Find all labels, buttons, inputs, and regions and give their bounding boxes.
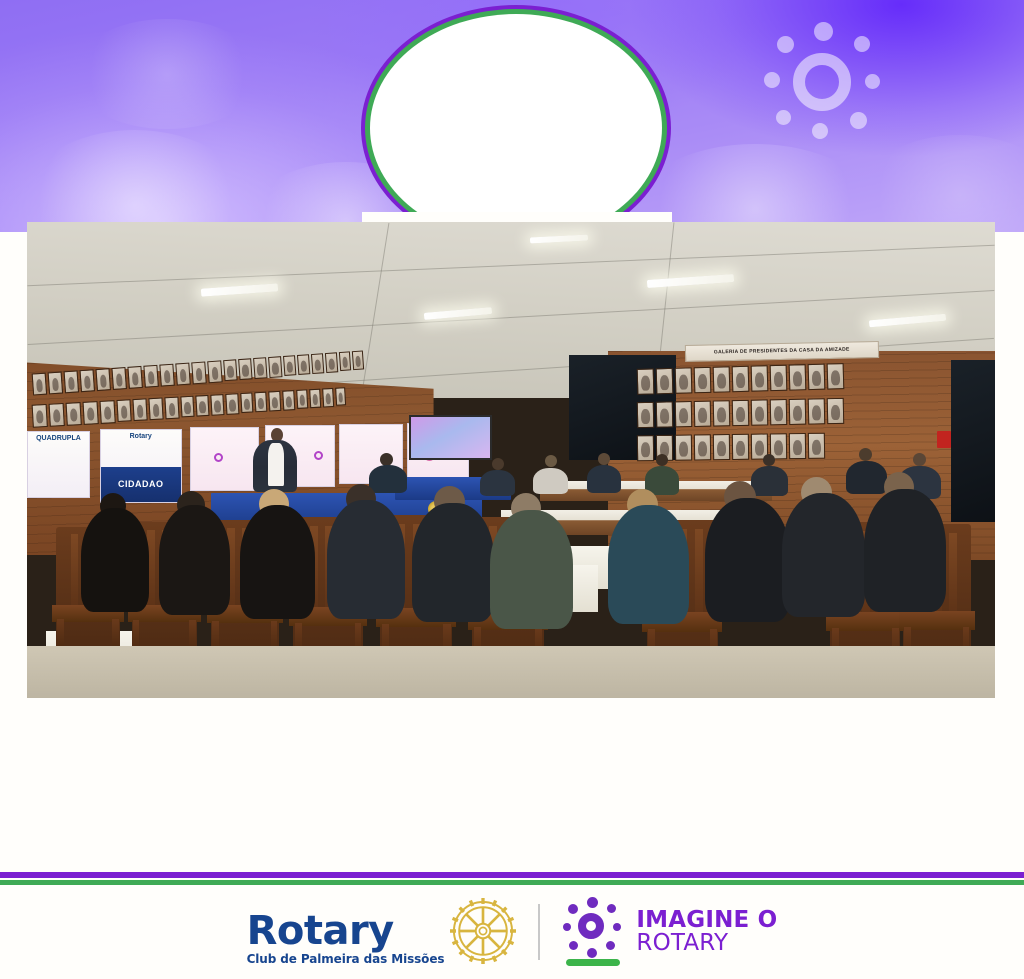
portrait-frame — [674, 367, 692, 393]
portrait-frame — [675, 401, 693, 427]
portrait-frame — [826, 363, 844, 389]
portrait-frame — [82, 401, 98, 425]
portrait-frame — [195, 395, 209, 417]
portrait-frame — [31, 404, 47, 428]
banner-sunburst-icon — [314, 451, 323, 460]
event-photo: GALERIA DE PRESIDENTES DA CASA DA AMIZAD… — [27, 222, 995, 698]
portrait-frame — [65, 402, 81, 426]
portrait-frame — [637, 435, 654, 461]
watermark-ray — [777, 36, 794, 53]
banner-quadrupla: QUADRUPLA — [27, 431, 90, 498]
portrait-frame — [335, 387, 346, 406]
sunburst-dot — [587, 897, 598, 908]
footer: Rotary Club de Palmeira das Missões — [0, 885, 1024, 979]
portrait-frame — [282, 390, 295, 411]
watermark-ring — [793, 53, 851, 111]
portrait-frame — [655, 368, 673, 394]
portrait-frame — [712, 366, 730, 392]
portrait-frame — [207, 361, 223, 384]
portrait-frame — [31, 373, 47, 396]
attendee-body — [240, 505, 316, 619]
portrait-frame — [283, 356, 296, 377]
portrait-frame — [322, 388, 334, 408]
portrait-frame — [164, 396, 179, 419]
portrait-frame — [713, 434, 730, 460]
divider-purple — [0, 872, 1024, 878]
portrait-frame — [143, 365, 159, 388]
attendee-head — [763, 454, 775, 466]
fire-extinguisher-sign-icon — [937, 431, 951, 448]
portrait-row — [637, 398, 844, 428]
imagine-green-underline — [566, 959, 620, 966]
sunburst-dot — [607, 904, 616, 913]
portrait-frame — [788, 364, 806, 390]
portrait-frame — [63, 371, 79, 394]
banner-title: QUADRUPLA — [28, 432, 89, 443]
portrait-frame — [827, 398, 845, 424]
watermark-ray — [776, 110, 791, 125]
portrait-frame — [309, 388, 321, 408]
portrait-frame — [637, 402, 655, 428]
banner-rotary-cidadao: Rotary CIDADAO — [100, 429, 182, 503]
portrait-frame — [339, 352, 351, 372]
portrait-frame — [311, 354, 324, 375]
header-banner — [0, 0, 1024, 232]
portrait-frame — [268, 391, 281, 412]
watermark-ray — [814, 22, 833, 41]
portrait-frame — [225, 393, 239, 415]
watermark-ray — [850, 112, 867, 129]
attendee-body-green — [490, 510, 573, 629]
attendee-head — [545, 455, 557, 467]
portrait-frame — [693, 367, 711, 393]
banner-sunburst-icon — [214, 453, 223, 462]
rotary-gear-wheel-icon — [450, 898, 516, 964]
imagine-rotary-sunburst-icon — [562, 897, 624, 967]
portrait-frame — [47, 372, 63, 395]
portrait-frame — [79, 370, 95, 393]
chair-slat — [949, 533, 956, 622]
portrait-frame — [116, 399, 131, 422]
attendee-body — [846, 461, 887, 494]
sunburst-dot — [613, 923, 621, 931]
portrait-frame — [296, 389, 308, 409]
footer-divider — [538, 904, 540, 960]
portrait-frame — [238, 359, 252, 381]
watermark-ray — [764, 72, 780, 88]
imagine-line-1: IMAGINE O — [636, 909, 777, 932]
header-cloud — [72, 19, 262, 129]
portrait-frame — [352, 351, 364, 371]
post-card: GALERIA DE PRESIDENTES DA CASA DA AMIZAD… — [0, 0, 1024, 979]
imagine-rotary-wordmark: IMAGINE O ROTARY — [636, 909, 777, 955]
portrait-frame — [48, 403, 64, 427]
imagine-rotary-sunburst-watermark-icon — [762, 22, 882, 142]
speaker-shirt — [268, 443, 284, 486]
portrait-frame — [159, 364, 175, 387]
attendee-body — [480, 470, 515, 497]
portrait-frame — [210, 394, 224, 416]
portrait-frame — [268, 357, 282, 379]
sunburst-dot — [606, 941, 615, 950]
watermark-ray — [865, 74, 880, 89]
portrait-frame — [751, 399, 769, 425]
portrait-frame — [656, 401, 674, 427]
rotary-wordmark: Rotary — [247, 912, 394, 950]
portrait-frame — [148, 397, 163, 420]
portrait-frame — [637, 368, 655, 394]
portrait-frame — [254, 391, 267, 412]
presentation-screen — [409, 415, 491, 460]
attendee-body — [705, 498, 790, 622]
rotary-wordmark-block: Rotary Club de Palmeira das Missões — [247, 912, 445, 966]
attendee-body — [751, 466, 788, 496]
sunburst-ring — [578, 913, 604, 939]
sunburst-dot — [568, 904, 578, 914]
attendee-body — [412, 503, 493, 622]
sunburst-dot — [569, 941, 578, 950]
portrait-frame — [789, 433, 806, 459]
attendee-body — [327, 500, 404, 619]
portrait-frame — [808, 433, 825, 459]
portrait-frame — [127, 366, 143, 389]
portrait-frame — [713, 400, 731, 426]
event-photo-canvas: GALERIA DE PRESIDENTES DA CASA DA AMIZAD… — [27, 222, 995, 698]
watermark-ray — [812, 123, 828, 139]
sunburst-dot — [587, 948, 597, 958]
portrait-frame — [111, 367, 127, 390]
portrait-frame — [770, 399, 788, 425]
portrait-row — [637, 363, 845, 395]
chair-slat — [695, 529, 703, 623]
portrait-frame — [253, 358, 267, 380]
header-cloud — [860, 135, 1024, 232]
portrait-frame — [223, 360, 237, 382]
attendee-body-teal — [608, 505, 689, 624]
portrait-frame — [297, 355, 310, 376]
attendee-body — [533, 468, 568, 495]
portrait-frame — [132, 398, 147, 421]
portrait-frame — [732, 400, 750, 426]
portrait-frame — [240, 392, 253, 413]
portrait-frame — [99, 400, 115, 424]
portrait-frame — [95, 369, 111, 392]
attendee-body — [782, 493, 865, 617]
portrait-frame — [807, 363, 825, 389]
portrait-frame — [191, 362, 207, 385]
portrait-frame — [175, 363, 191, 386]
attendee-head — [598, 453, 610, 465]
portrait-frame — [325, 353, 338, 374]
portrait-frame — [750, 365, 768, 391]
portrait-frame — [675, 435, 692, 461]
portrait-frame — [808, 398, 826, 424]
imagine-line-2: ROTARY — [636, 932, 777, 955]
attendee-body — [369, 465, 408, 494]
watermark-ray — [854, 36, 870, 52]
banner-pink — [190, 427, 260, 491]
floor — [27, 646, 995, 698]
attendee-body — [159, 505, 231, 614]
portrait-frame — [180, 395, 194, 417]
attendee-head — [913, 453, 926, 466]
header-cloud — [20, 130, 250, 232]
portrait-frame — [731, 366, 749, 392]
imagine-rotary-brand: IMAGINE O ROTARY — [562, 897, 777, 967]
chair-slat — [71, 534, 78, 614]
portrait-frame — [769, 364, 787, 390]
attendee-body — [864, 489, 945, 613]
portrait-frame — [694, 401, 712, 427]
hero-oval-placeholder — [370, 14, 662, 232]
rotary-club-brand: Rotary Club de Palmeira das Missões — [247, 898, 517, 966]
attendee-body — [587, 465, 622, 494]
portrait-frame — [732, 434, 749, 460]
club-name: Club de Palmeira das Missões — [247, 952, 445, 966]
attendee-head — [492, 458, 504, 470]
portrait-frame — [789, 399, 807, 425]
portrait-frame — [694, 435, 711, 461]
attendee-body — [81, 508, 149, 613]
banner-title: Rotary — [101, 430, 181, 441]
caption-area — [0, 698, 1024, 870]
sunburst-dot — [563, 923, 571, 931]
dark-window — [951, 360, 995, 522]
